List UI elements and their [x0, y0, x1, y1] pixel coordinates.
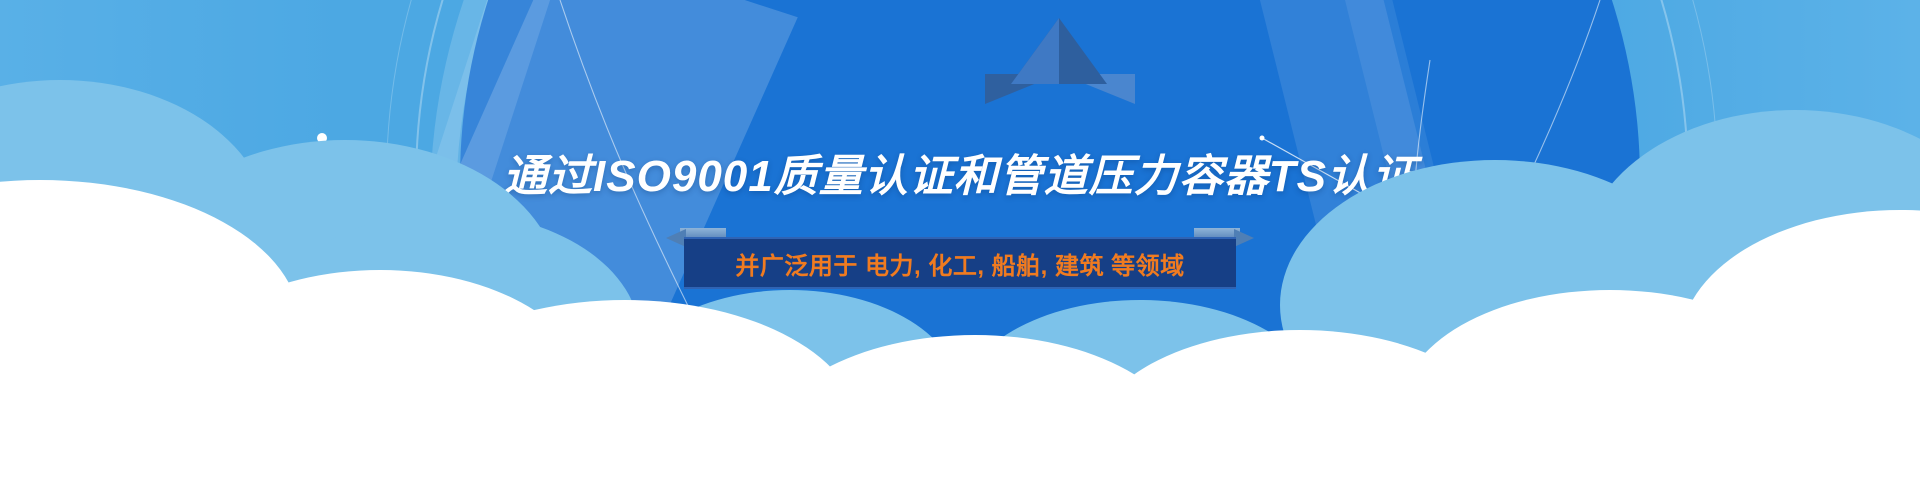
- logo-peak-light: [1011, 18, 1059, 84]
- cloud-band: [0, 220, 1920, 480]
- cloud-base-fill: [0, 388, 1920, 480]
- promo-banner: 通过ISO9001质量认证和管道压力容器TS认证 并广泛用于 电力, 化工, 船…: [0, 0, 1920, 480]
- triangle-logo-icon: [985, 18, 1135, 110]
